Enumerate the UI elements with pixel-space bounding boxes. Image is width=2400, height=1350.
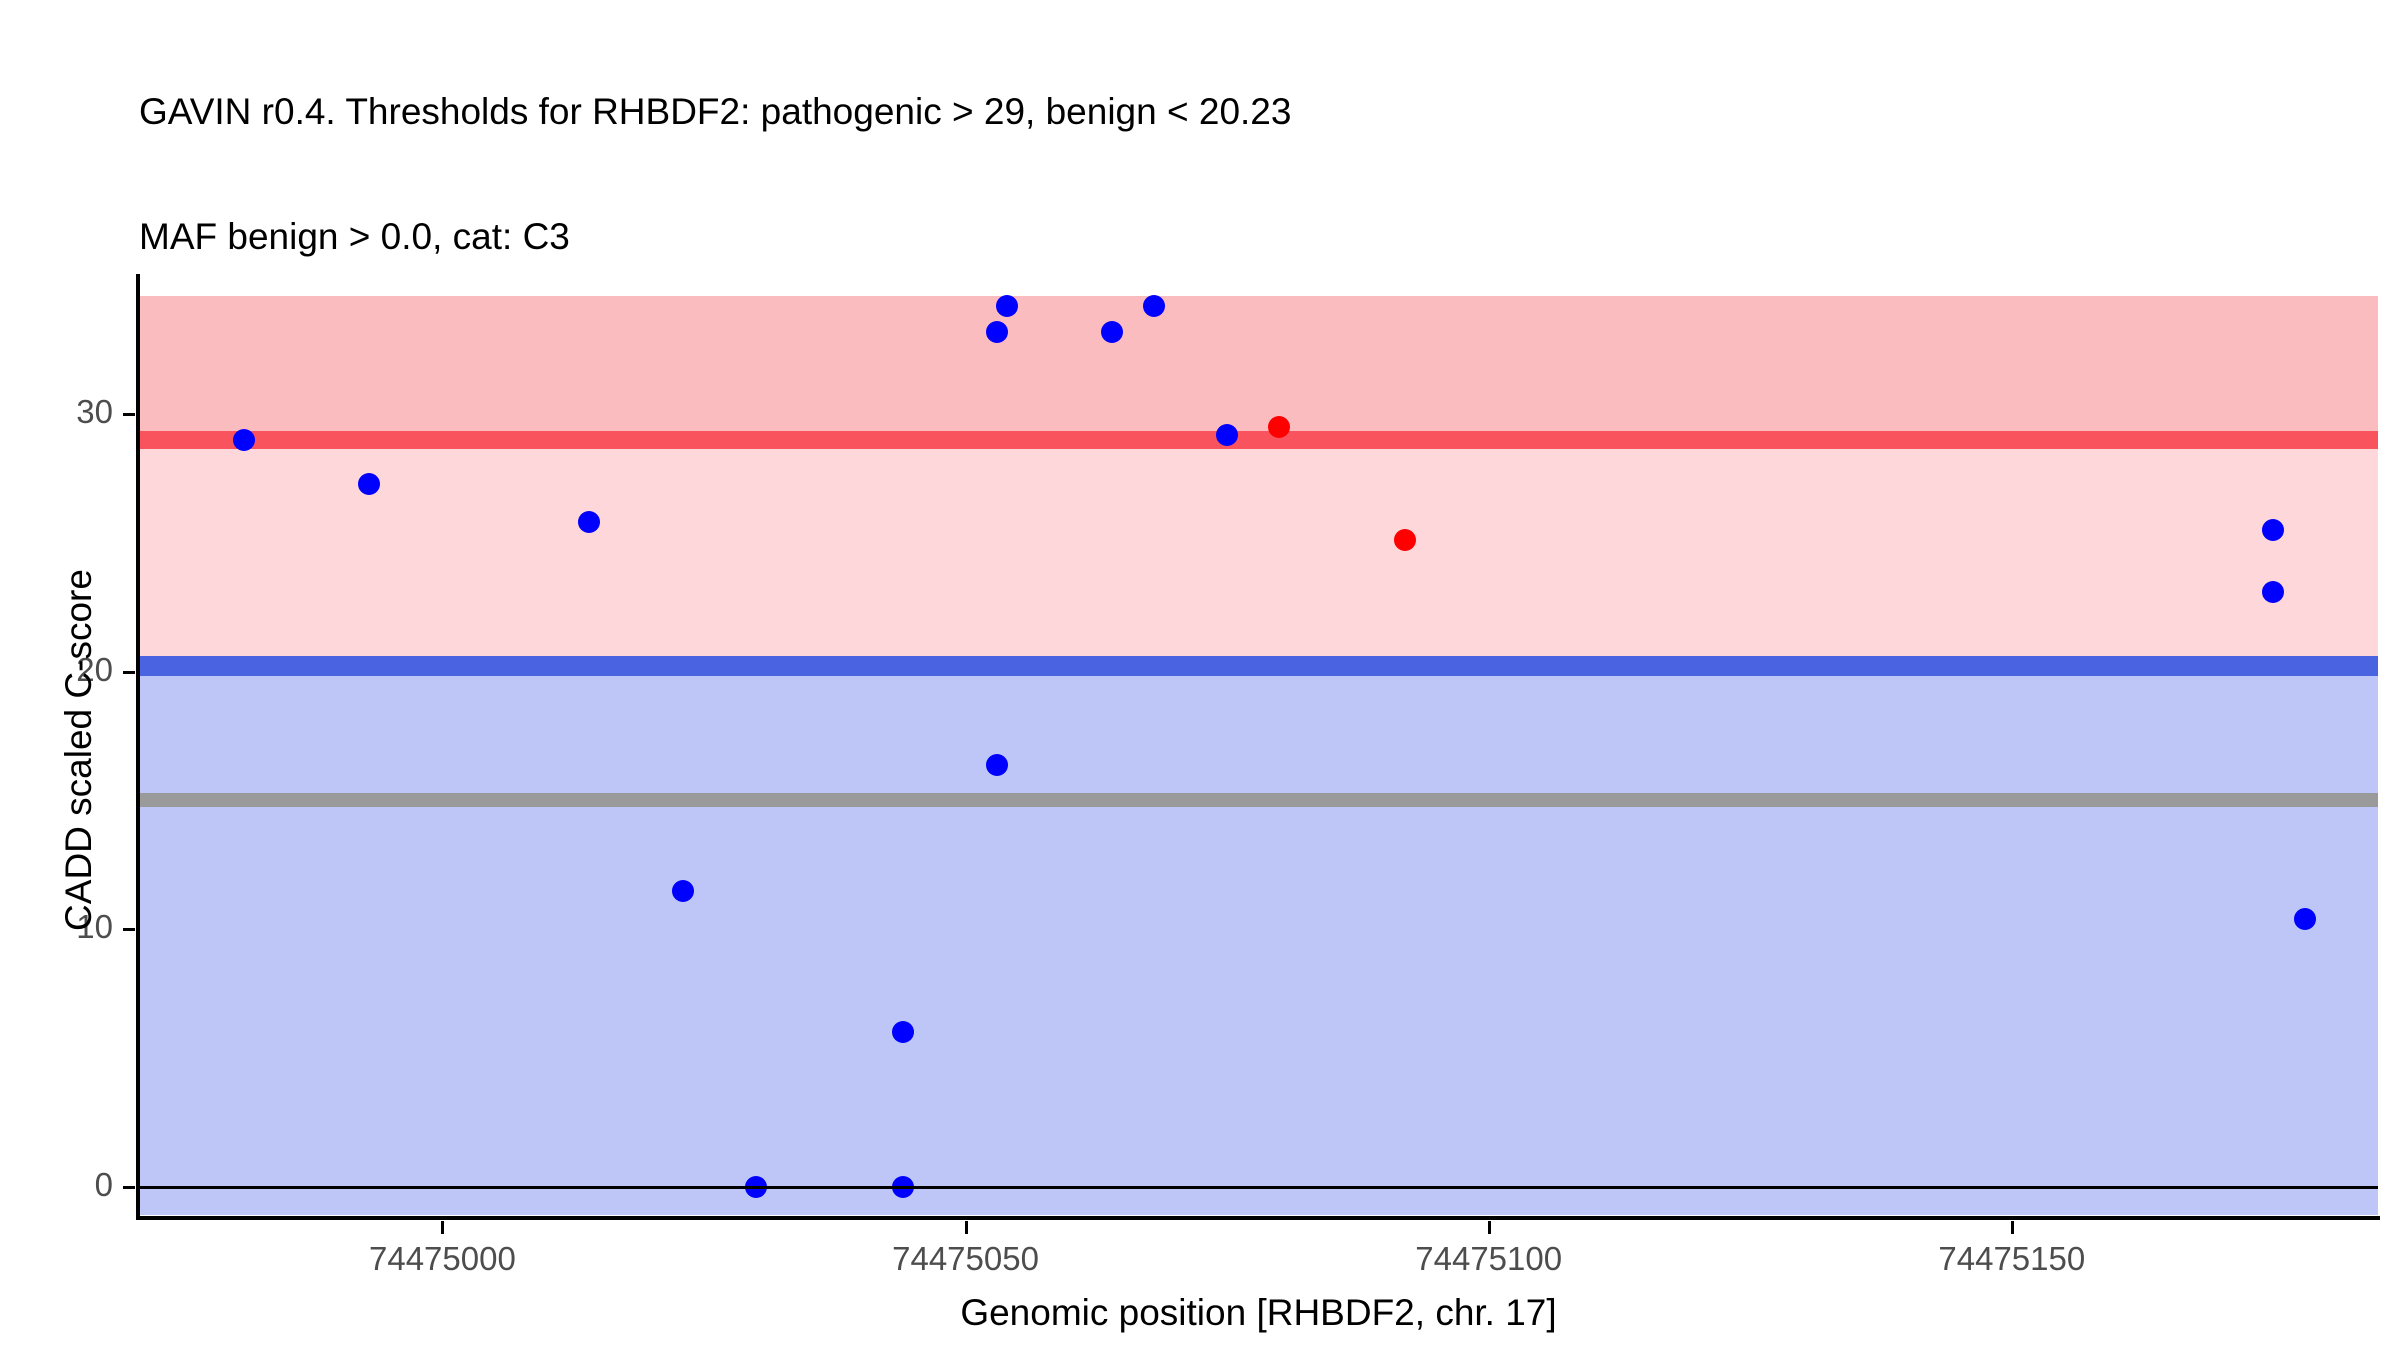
band-vous-zone xyxy=(139,449,2378,666)
y-tick xyxy=(123,928,135,931)
data-point xyxy=(2262,519,2284,541)
data-point xyxy=(996,295,1018,317)
data-point xyxy=(1268,416,1290,438)
data-point xyxy=(1101,321,1123,343)
data-point xyxy=(986,754,1008,776)
data-point xyxy=(1143,295,1165,317)
band-benign-zone-lower xyxy=(139,807,2378,1215)
data-point xyxy=(2262,581,2284,603)
y-axis-title: CADD scaled C-score xyxy=(58,300,100,1200)
data-point xyxy=(358,473,380,495)
x-tick-label: 74475150 xyxy=(1938,1240,2085,1278)
data-point xyxy=(578,511,600,533)
x-tick-label: 74475000 xyxy=(369,1240,516,1278)
panel-bottom-border xyxy=(136,1216,2380,1220)
x-tick xyxy=(441,1221,444,1234)
plot-panel xyxy=(139,275,2378,1218)
data-point xyxy=(892,1021,914,1043)
y-tick xyxy=(123,671,135,674)
x-axis-title: Genomic position [RHBDF2, chr. 17] xyxy=(139,1292,2378,1334)
data-point xyxy=(672,880,694,902)
x-tick-label: 74475100 xyxy=(1415,1240,1562,1278)
data-point xyxy=(986,321,1008,343)
x-tick xyxy=(1488,1221,1491,1234)
band-benign-zone-upper xyxy=(139,676,2378,793)
data-point xyxy=(233,429,255,451)
band-pathogenic-zone xyxy=(139,296,2378,440)
x-tick xyxy=(2011,1221,2014,1234)
x-tick-label: 74475050 xyxy=(892,1240,1039,1278)
y-axis-line xyxy=(136,274,140,1219)
data-point xyxy=(2294,908,2316,930)
y-tick xyxy=(123,1186,135,1189)
title-line-1: GAVIN r0.4. Thresholds for RHBDF2: patho… xyxy=(139,91,1317,133)
band-fallback-threshold-line xyxy=(139,793,2378,807)
x-zero-axis-line xyxy=(139,1186,2378,1189)
data-point xyxy=(1394,529,1416,551)
band-pathogenic-threshold-line xyxy=(139,431,2378,449)
data-point xyxy=(1216,424,1238,446)
x-tick xyxy=(965,1221,968,1234)
band-benign-threshold-line xyxy=(139,656,2378,675)
title-line-2: MAF benign > 0.0, cat: C3 xyxy=(139,216,1317,258)
y-tick xyxy=(123,413,135,416)
